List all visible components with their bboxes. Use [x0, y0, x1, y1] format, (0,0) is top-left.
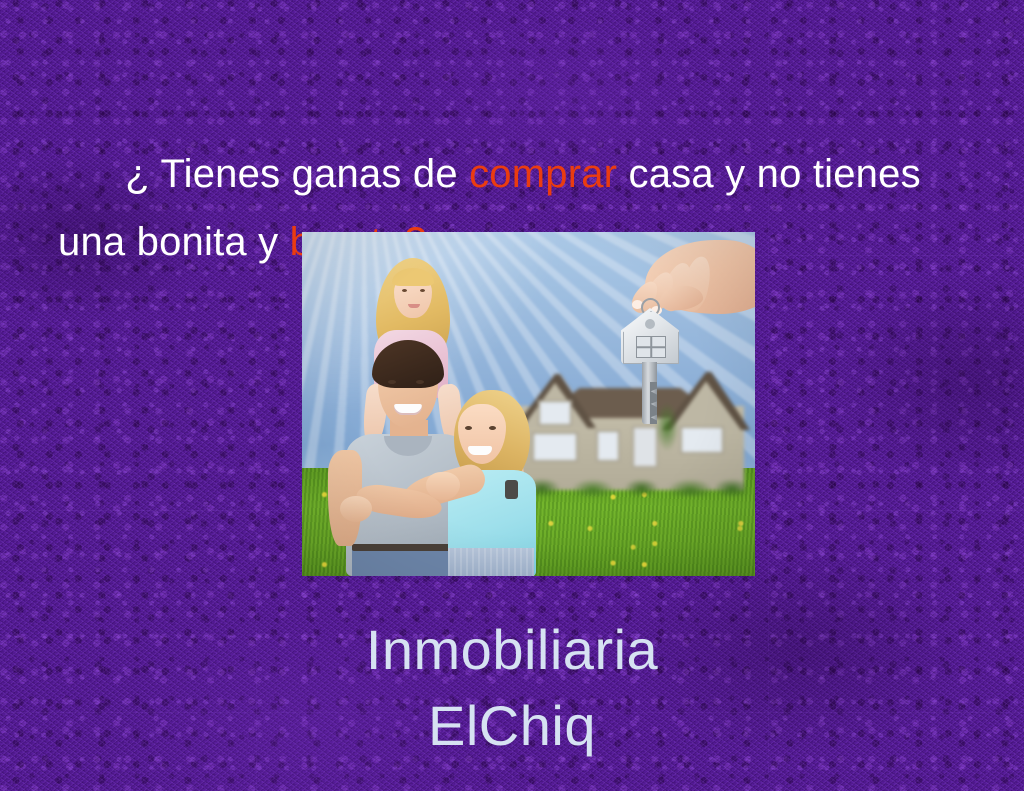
house-key-icon — [621, 308, 679, 424]
man-eye — [388, 380, 396, 384]
girl-eye — [420, 289, 425, 292]
house-window — [532, 432, 578, 462]
woman-jeans — [448, 548, 534, 576]
headline-line1-prefix: ¿ Tienes ganas de — [125, 152, 469, 196]
wristwatch — [505, 480, 518, 499]
man-hand — [340, 496, 372, 522]
company-name: Inmobiliaria ElChiq — [0, 612, 1024, 764]
headline-line2-prefix: una bonita y — [58, 220, 290, 264]
house-window — [596, 430, 620, 462]
headline-line1-suffix: casa y no tienes — [617, 152, 921, 196]
woman-eye — [489, 426, 496, 430]
woman-smile — [468, 446, 492, 455]
presentation-slide: ¿ Tienes ganas de comprar casa y no tien… — [0, 0, 1024, 791]
company-name-line2: ElChiq — [0, 688, 1024, 764]
woman-eye — [465, 426, 472, 430]
real-estate-photo — [302, 232, 755, 576]
man-smile — [394, 404, 422, 415]
house-window — [538, 400, 572, 426]
house-window — [680, 426, 724, 454]
hand-holding-key — [619, 238, 755, 350]
family-group — [318, 244, 528, 576]
girl-eye — [402, 289, 407, 292]
headline-accent-comprar: comprar — [469, 152, 617, 196]
company-name-line1: Inmobiliaria — [0, 612, 1024, 688]
house-bushes — [514, 470, 746, 496]
man-eye — [416, 380, 424, 384]
key-window-panes — [636, 336, 666, 358]
key-hole — [645, 319, 655, 329]
